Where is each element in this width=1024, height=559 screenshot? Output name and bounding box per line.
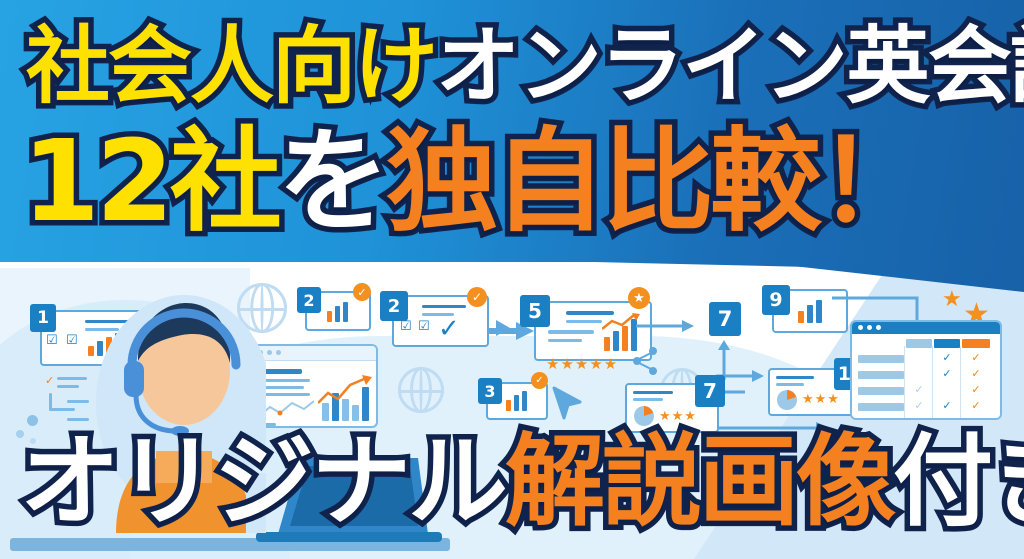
table-row <box>858 355 904 363</box>
table-row <box>858 371 904 379</box>
table-check: ✓ <box>962 367 990 380</box>
headline-line-1: 社会人向けオンライン英会話 <box>26 24 1024 108</box>
card-5: 5 ★ ★★★★★ <box>520 295 648 371</box>
dashboard-window <box>250 344 378 428</box>
table-check: ✓ <box>906 399 932 412</box>
arrow-right-2 <box>636 318 694 339</box>
card-7-badge: 7 <box>709 302 741 336</box>
thumbnail-canvas: ☑ ☑ 1 ✓ <box>0 0 1024 559</box>
star-badge-icon: ★ <box>628 287 650 309</box>
headline-3-segment-1: オリジナル <box>20 423 505 540</box>
table-header-cell <box>962 339 990 348</box>
card-5-rating: ★★★★★ <box>546 355 618 373</box>
globe-icon-2 <box>398 367 444 413</box>
table-check: ✓ <box>934 351 960 364</box>
card-3-number: 3 <box>478 378 502 404</box>
check-badge-icon: ✓ <box>467 287 487 307</box>
card-9-number: 9 <box>762 285 790 315</box>
table-check: ✓ <box>962 351 990 364</box>
card-2a-number: 2 <box>297 287 321 313</box>
card-2b-number: 2 <box>380 291 408 321</box>
card-3: 3 ✓ <box>478 378 544 420</box>
cursor-pointer-icon <box>550 386 584 427</box>
headline-2-segment-1: 12社 <box>22 117 278 247</box>
card-5-number: 5 <box>520 295 550 327</box>
decoration-star-1: ★ <box>942 286 962 312</box>
table-row <box>858 387 904 395</box>
headline-2-segment-2: を <box>278 117 386 247</box>
table-check: ✓ <box>906 383 932 396</box>
card-10-rating: ★★★ <box>802 391 840 407</box>
table-check: ✓ <box>962 399 990 412</box>
card-7-rating: ★★★ <box>659 408 697 424</box>
table-check: ✓ <box>934 367 960 380</box>
check-badge-icon: ✓ <box>531 372 548 389</box>
table-check: ✓ <box>934 399 960 412</box>
comparison-table-window: ✓ ✓ ✓ ✓ ✓ ✓ ✓ ✓ ✓ <box>850 320 1002 420</box>
card-2a: 2 ✓ <box>297 287 367 331</box>
table-check: ✓ <box>962 383 990 396</box>
headline-1-segment-1: 社会人向け <box>26 17 436 115</box>
headline-line-3: オリジナル解説画像付き <box>20 432 1024 532</box>
headline-3-segment-3: 付き <box>893 423 1024 540</box>
card-7-pie-number: 7 <box>695 375 725 407</box>
check-badge-icon: ✓ <box>353 283 371 301</box>
headline-1-segment-2: オンライン英会話 <box>436 17 1024 115</box>
table-header-cell <box>906 339 932 348</box>
headline-2-segment-3: 独自比較！ <box>386 117 926 247</box>
arrow-right-5 <box>496 318 510 343</box>
headline-line-2: 12社を独自比較！ <box>22 126 926 238</box>
card-1-number: 1 <box>30 304 56 332</box>
table-header-cell <box>934 339 960 348</box>
table-row <box>858 403 904 411</box>
headline-3-segment-2: 解説画像 <box>505 423 893 540</box>
card-2b: ☑ ☑ ✓ 2 ✓ <box>380 291 485 347</box>
